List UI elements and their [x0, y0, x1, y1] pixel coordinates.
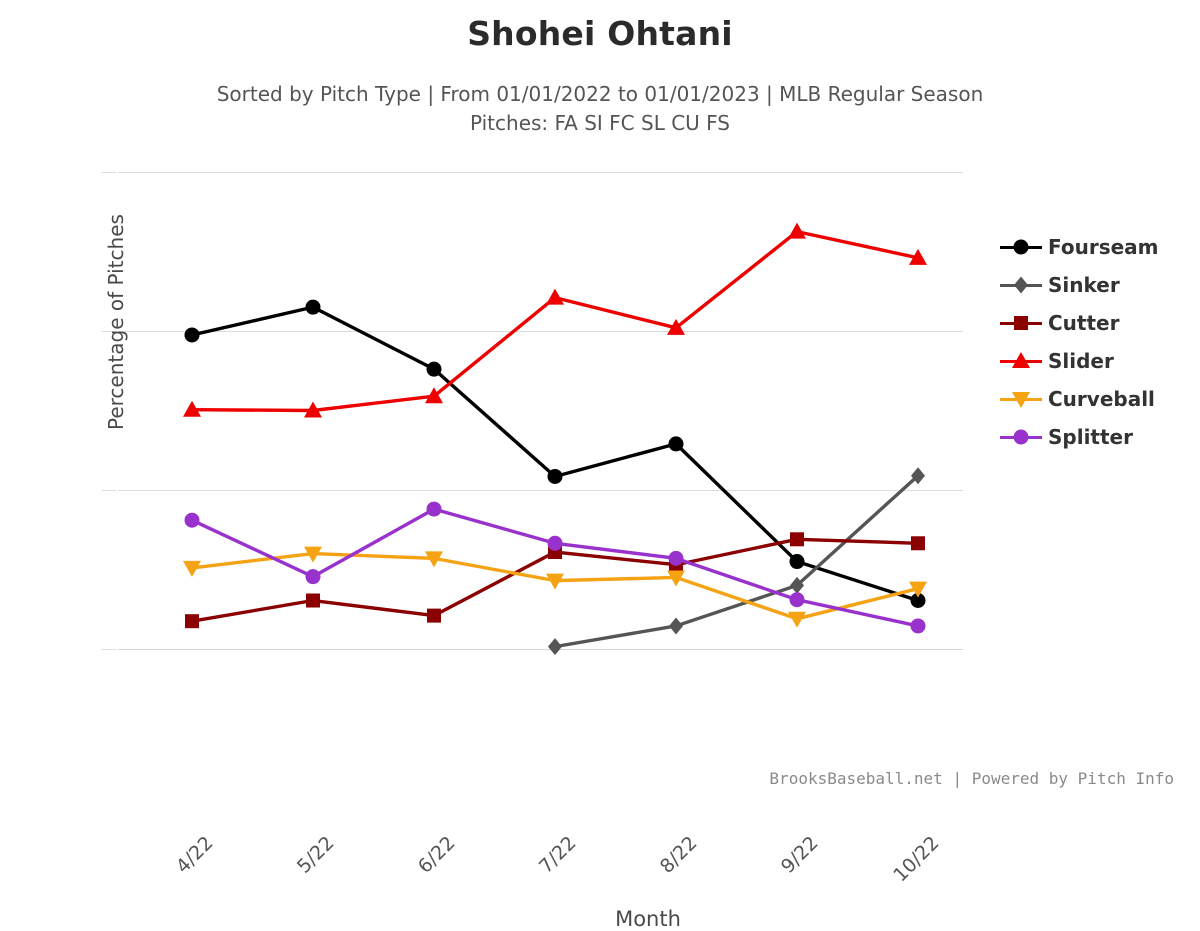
legend-item-splitter[interactable]: Splitter: [1000, 418, 1196, 456]
y-tick-mark-0: [102, 649, 116, 650]
plot-area: 0204060 Percentage of Pitches 4/225/226/…: [118, 172, 963, 649]
chart-subtitle: Sorted by Pitch Type | From 01/01/2022 t…: [0, 80, 1200, 138]
legend-swatch-slider-icon: [1000, 351, 1042, 371]
y-axis-title: Percentage of Pitches: [104, 214, 128, 430]
legend-marker-triangle-up-icon: [1000, 351, 1042, 371]
legend-marker-circle-icon: [1000, 237, 1042, 257]
gridline-20: [118, 490, 963, 491]
legend-swatch-fourseam-icon: [1000, 237, 1042, 257]
legend-label: Fourseam: [1048, 235, 1159, 259]
legend-marker-square-icon: [1000, 313, 1042, 333]
legend-swatch-splitter-icon: [1000, 427, 1042, 447]
x-tick-label-8-22: 8/22: [615, 832, 701, 918]
x-tick-label-9-22: 9/22: [736, 832, 822, 918]
gridline-60: [118, 172, 963, 173]
x-tick-label-4-22: 4/22: [131, 832, 217, 918]
x-tick-label-10-22: 10/22: [857, 832, 943, 918]
legend-swatch-sinker-icon: [1000, 275, 1042, 295]
gridline-40: [118, 331, 963, 332]
chart-page: Shohei Ohtani Sorted by Pitch Type | Fro…: [0, 0, 1200, 800]
x-tick-label-5-22: 5/22: [252, 832, 338, 918]
legend-label: Curveball: [1048, 387, 1155, 411]
gridline-0: [118, 649, 963, 650]
chart-subtitle-line-2: Pitches: FA SI FC SL CU FS: [0, 109, 1200, 138]
legend-label: Slider: [1048, 349, 1114, 373]
legend-item-sinker[interactable]: Sinker: [1000, 266, 1196, 304]
legend-marker-triangle-down-icon: [1000, 389, 1042, 409]
y-tick-mark-60: [102, 172, 116, 173]
legend-item-cutter[interactable]: Cutter: [1000, 304, 1196, 342]
y-tick-mark-20: [102, 490, 116, 491]
legend-swatch-cutter-icon: [1000, 313, 1042, 333]
legend-marker-diamond-icon: [1000, 275, 1042, 295]
legend-label: Sinker: [1048, 273, 1120, 297]
legend-swatch-curveball-icon: [1000, 389, 1042, 409]
legend-label: Cutter: [1048, 311, 1119, 335]
legend-marker-circle-icon: [1000, 427, 1042, 447]
chart-subtitle-line-1: Sorted by Pitch Type | From 01/01/2022 t…: [0, 80, 1200, 109]
page-title: Shohei Ohtani: [0, 14, 1200, 53]
legend-item-fourseam[interactable]: Fourseam: [1000, 228, 1196, 266]
footer-credit: BrooksBaseball.net | Powered by Pitch In…: [769, 769, 1174, 788]
legend: FourseamSinkerCutterSliderCurveballSplit…: [1000, 228, 1196, 456]
x-tick-label-7-22: 7/22: [494, 832, 580, 918]
legend-label: Splitter: [1048, 425, 1133, 449]
legend-item-curveball[interactable]: Curveball: [1000, 380, 1196, 418]
x-tick-label-6-22: 6/22: [373, 832, 459, 918]
x-axis-title: Month: [118, 907, 1178, 931]
legend-item-slider[interactable]: Slider: [1000, 342, 1196, 380]
